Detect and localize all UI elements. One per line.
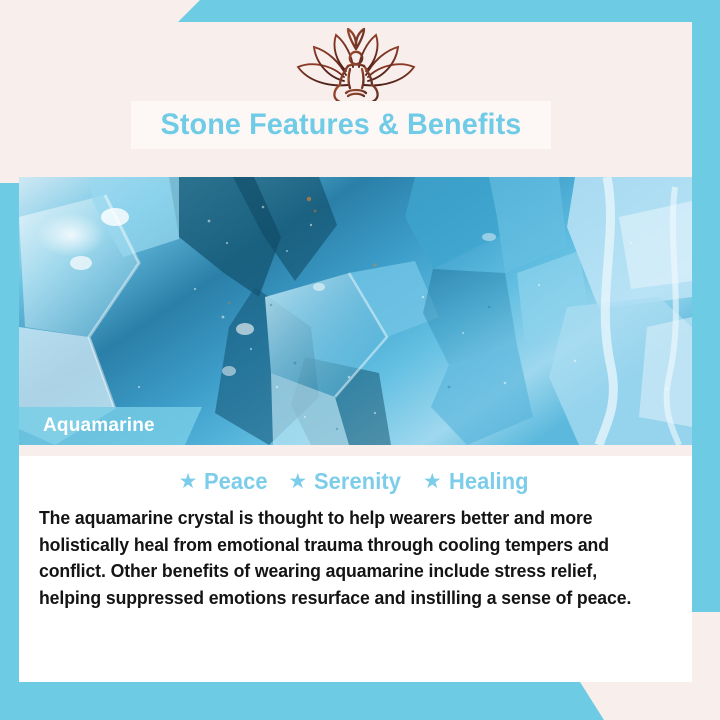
benefit-label-serenity: Serenity (314, 468, 401, 495)
title-banner: Stone Features & Benefits (131, 101, 551, 149)
benefit-item-healing: ★ Healing (423, 468, 533, 495)
photo-caption-band: Aquamarine (19, 407, 202, 445)
benefits-row: ★ Peace ★ Serenity ★ Healing (29, 464, 682, 498)
description-text: The aquamarine crystal is thought to hel… (39, 505, 652, 611)
page-title: Stone Features & Benefits (161, 108, 522, 142)
aquamarine-crystal-photo: Aquamarine (19, 177, 692, 445)
star-icon: ★ (288, 471, 307, 492)
photo-caption-label: Aquamarine (43, 415, 155, 437)
divider-strip (19, 445, 692, 456)
benefit-item-peace: ★ Peace (179, 468, 272, 495)
right-cyan-band-shape (692, 0, 720, 612)
benefit-label-healing: Healing (449, 468, 529, 495)
left-cyan-band-shape (0, 183, 19, 687)
benefit-label-peace: Peace (204, 468, 268, 495)
stone-features-poster: BUDDHA STONES Stone Features & Benefits (0, 0, 720, 720)
star-icon: ★ (179, 471, 198, 492)
description-card: ★ Peace ★ Serenity ★ Healing The aquamar… (19, 456, 692, 682)
benefit-item-serenity: ★ Serenity (288, 468, 405, 495)
star-icon: ★ (423, 471, 442, 492)
header: BUDDHA STONES (19, 22, 692, 177)
lotus-meditation-icon (271, 26, 441, 112)
